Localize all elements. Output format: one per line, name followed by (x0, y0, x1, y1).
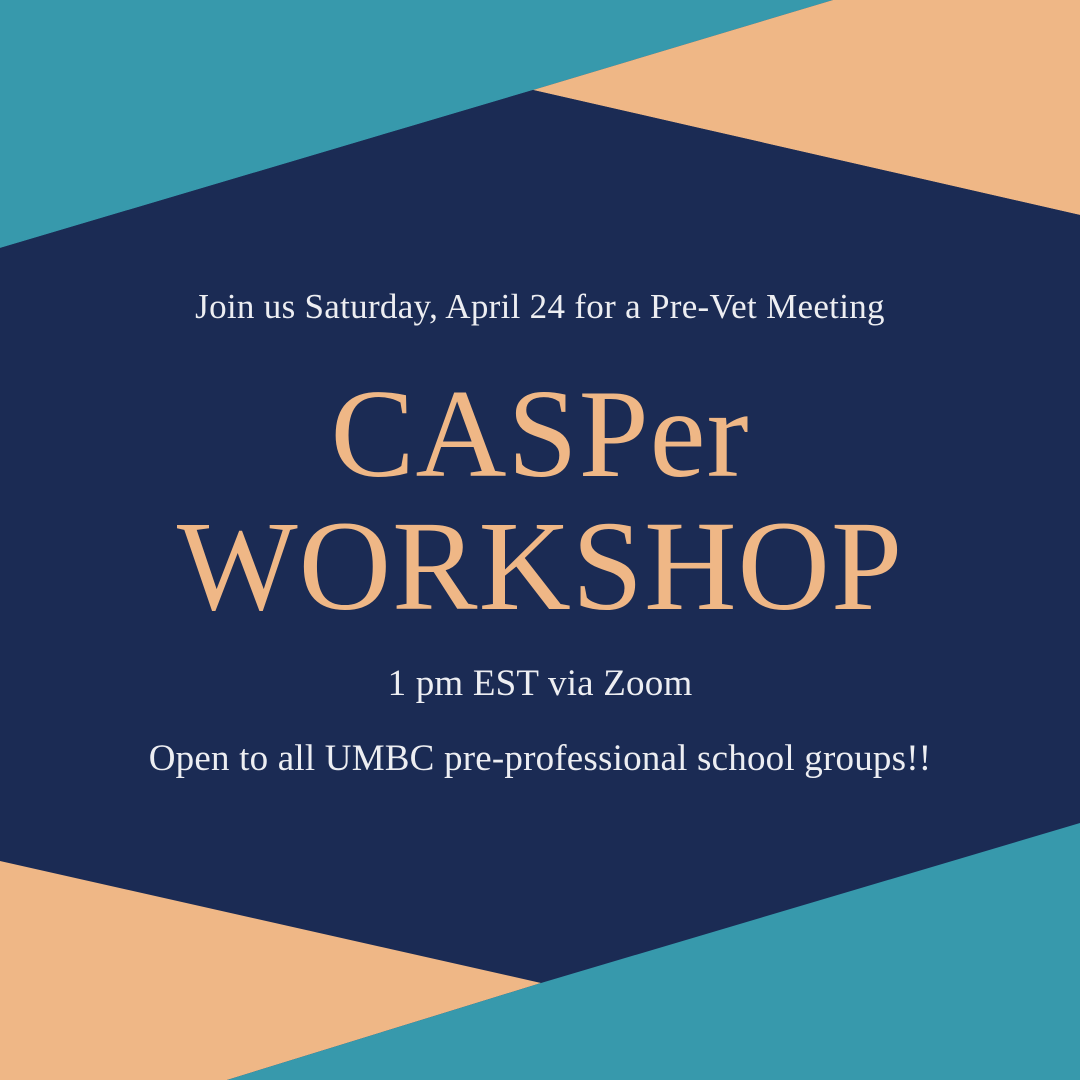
title-line-casper: CASPer (0, 372, 1080, 498)
title-line-workshop: WORKSHOP (0, 502, 1080, 630)
poster-canvas: Join us Saturday, April 24 for a Pre-Vet… (0, 0, 1080, 1080)
event-tagline: Join us Saturday, April 24 for a Pre-Vet… (0, 288, 1080, 327)
event-time-platform: 1 pm EST via Zoom (0, 662, 1080, 705)
poster-title: CASPer WORKSHOP (0, 372, 1080, 630)
event-audience-note: Open to all UMBC pre-professional school… (0, 737, 1080, 780)
poster-content: Join us Saturday, April 24 for a Pre-Vet… (0, 0, 1080, 1080)
